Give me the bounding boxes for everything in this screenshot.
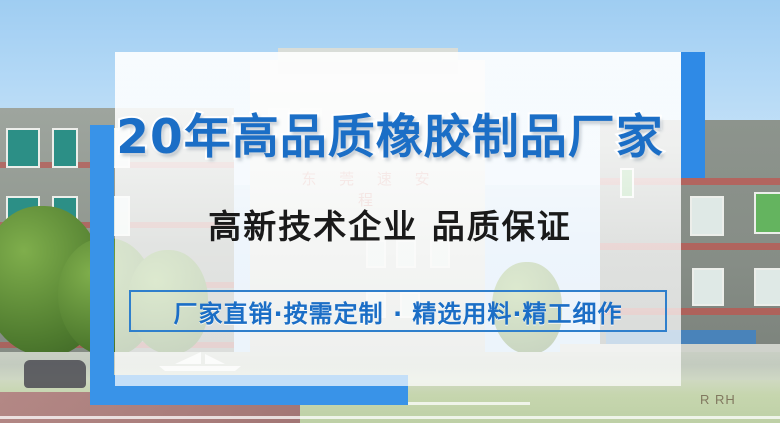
headline-text: 20年高品质橡胶制品厂家: [0, 98, 780, 167]
tagline-box: 厂家直销·按需定制 · 精选用料·精工细作: [129, 290, 667, 332]
tagline-text: 厂家直销·按需定制 · 精选用料·精工细作: [173, 294, 622, 329]
subtitle-text: 高新技术企业 品质保证: [0, 200, 780, 248]
banner-content: 20年高品质橡胶制品厂家 高新技术企业 品质保证 厂家直销·按需定制 · 精选用…: [0, 0, 780, 423]
promo-banner: 东 莞 速 安 程 R RH 20年高品质橡胶制品厂家 高新技术企业 品质保证 …: [0, 0, 780, 423]
